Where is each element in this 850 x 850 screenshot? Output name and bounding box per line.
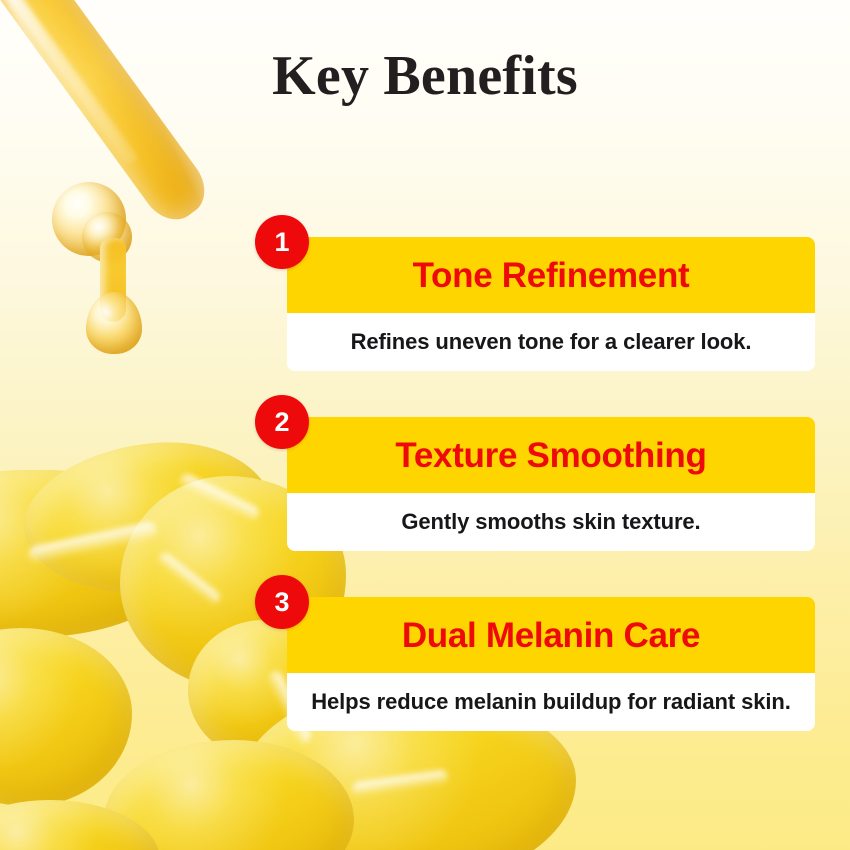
- benefit-card-header: Tone Refinement: [287, 237, 815, 313]
- benefit-card-body: Refines uneven tone for a clearer look.: [287, 313, 815, 371]
- benefit-number-badge: 1: [255, 215, 309, 269]
- benefit-title: Texture Smoothing: [395, 438, 706, 473]
- benefit-card-3: 3 Dual Melanin Care Helps reduce melanin…: [287, 597, 815, 731]
- benefit-card-header: Dual Melanin Care: [287, 597, 815, 673]
- benefits-list: 1 Tone Refinement Refines uneven tone fo…: [287, 237, 815, 731]
- benefit-card-2: 2 Texture Smoothing Gently smooths skin …: [287, 417, 815, 551]
- benefit-number-badge: 2: [255, 395, 309, 449]
- benefit-title: Tone Refinement: [413, 258, 690, 293]
- benefit-description: Refines uneven tone for a clearer look.: [351, 331, 752, 353]
- content-layer: Key Benefits 1 Tone Refinement Refines u…: [0, 0, 850, 850]
- benefit-title: Dual Melanin Care: [402, 618, 700, 653]
- benefit-card-body: Helps reduce melanin buildup for radiant…: [287, 673, 815, 731]
- page-title: Key Benefits: [0, 48, 850, 104]
- benefit-description: Helps reduce melanin buildup for radiant…: [311, 691, 791, 713]
- benefit-description: Gently smooths skin texture.: [401, 511, 700, 533]
- benefit-number-badge: 3: [255, 575, 309, 629]
- benefit-card-body: Gently smooths skin texture.: [287, 493, 815, 551]
- key-benefits-graphic: Key Benefits 1 Tone Refinement Refines u…: [0, 0, 850, 850]
- benefit-card-1: 1 Tone Refinement Refines uneven tone fo…: [287, 237, 815, 371]
- benefit-card-header: Texture Smoothing: [287, 417, 815, 493]
